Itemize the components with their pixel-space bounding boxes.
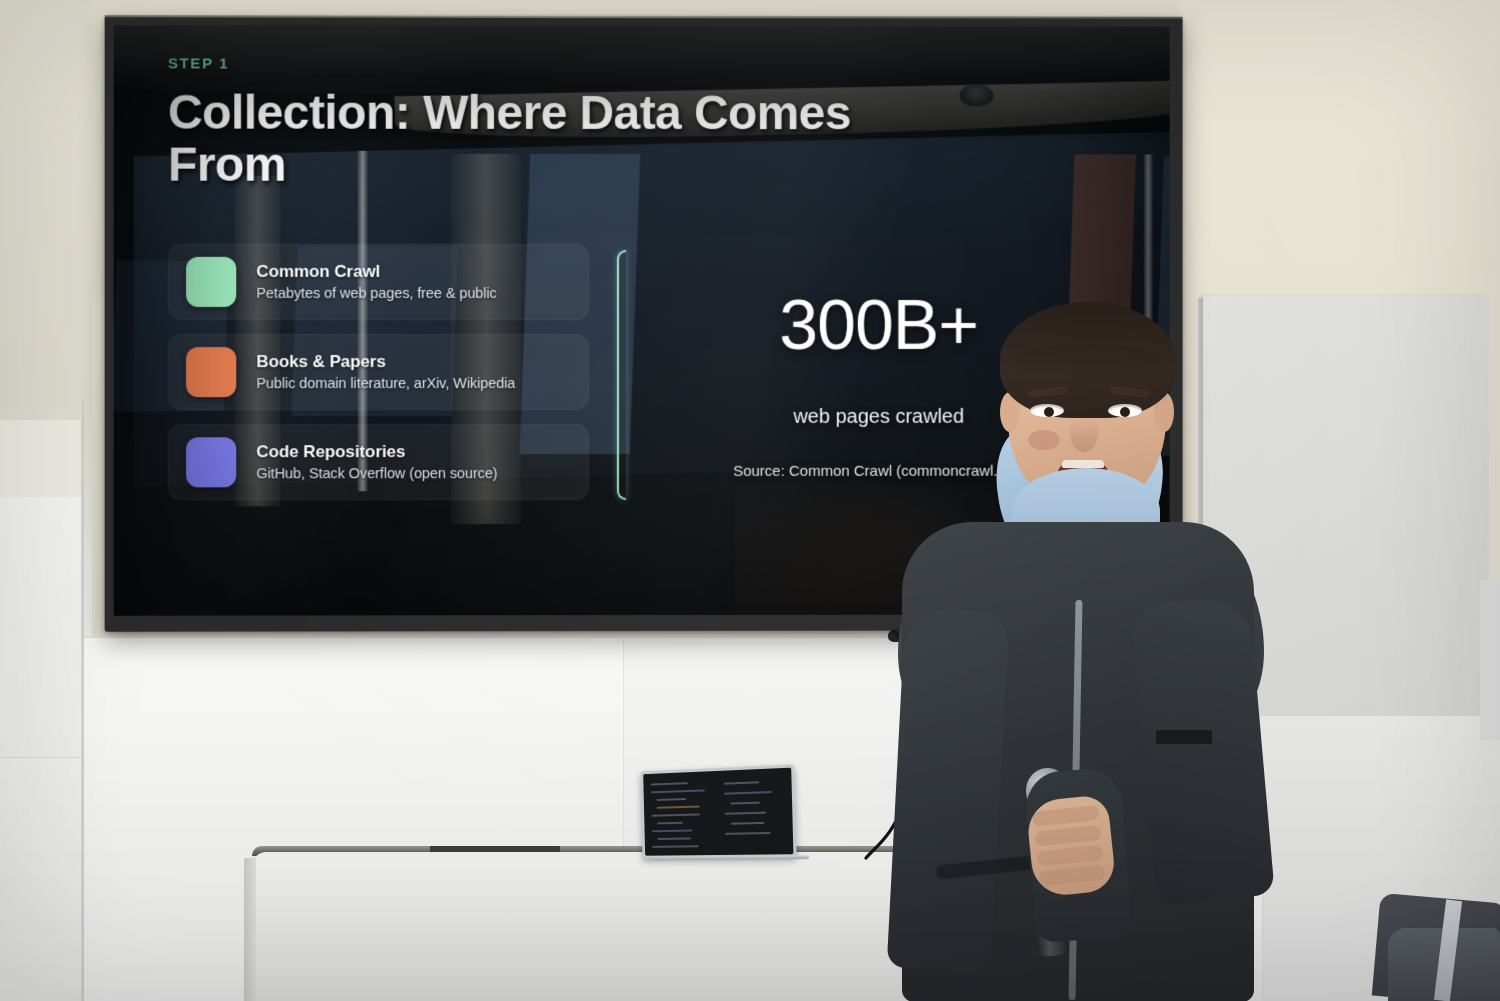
source-card-common-crawl: Common Crawl Petabytes of web pages, fre… <box>168 243 589 319</box>
stat-accent-bar <box>617 250 626 500</box>
color-swatch-icon <box>186 347 236 397</box>
slide-title: Collection: Where Data Comes From <box>168 87 859 191</box>
presenter <box>880 300 1280 1001</box>
color-swatch-icon <box>186 257 236 307</box>
source-card-books-papers: Books & Papers Public domain literature,… <box>168 334 589 410</box>
laptop[interactable] <box>640 764 796 858</box>
jacket-sleeve-left <box>887 608 1010 973</box>
eye-right <box>1108 404 1142 417</box>
wall-upper-right <box>1180 0 1500 300</box>
step-label: STEP 1 <box>168 55 1124 73</box>
source-description: GitHub, Stack Overflow (open source) <box>256 466 497 482</box>
jacket-chest-logo <box>1156 730 1212 744</box>
source-text-group: Common Crawl Petabytes of web pages, fre… <box>256 262 496 302</box>
source-name: Books & Papers <box>256 352 515 372</box>
laptop-screen <box>643 768 793 856</box>
pupil-left <box>1044 407 1054 417</box>
photo-scene: STEP 1 Collection: Where Data Comes From… <box>0 0 1500 1001</box>
pupil-right <box>1120 407 1130 417</box>
eye-left <box>1030 404 1064 417</box>
source-name: Code Repositories <box>256 442 497 462</box>
wall-panel-left-top <box>0 420 82 498</box>
hand-holding-microphone <box>1025 794 1117 898</box>
source-text-group: Code Repositories GitHub, Stack Overflow… <box>256 442 497 482</box>
teeth <box>1062 460 1104 468</box>
source-card-code-repositories: Code Repositories GitHub, Stack Overflow… <box>168 424 589 500</box>
source-name: Common Crawl <box>256 262 496 282</box>
source-description: Petabytes of web pages, free & public <box>256 286 496 302</box>
cheek <box>1028 430 1060 450</box>
hair-fringe <box>1014 344 1164 378</box>
nose <box>1070 418 1098 452</box>
wall-panel-left-upper <box>0 497 82 757</box>
source-text-group: Books & Papers Public domain literature,… <box>256 352 515 392</box>
laptop-lid <box>640 764 796 858</box>
wall-panel-left-lower <box>0 757 82 1001</box>
acoustic-panel-far-right <box>1480 580 1500 740</box>
podium-side-edge <box>244 858 256 1001</box>
data-source-list: Common Crawl Petabytes of web pages, fre… <box>168 243 589 506</box>
source-description: Public domain literature, arXiv, Wikiped… <box>256 376 515 392</box>
color-swatch-icon <box>186 437 236 487</box>
